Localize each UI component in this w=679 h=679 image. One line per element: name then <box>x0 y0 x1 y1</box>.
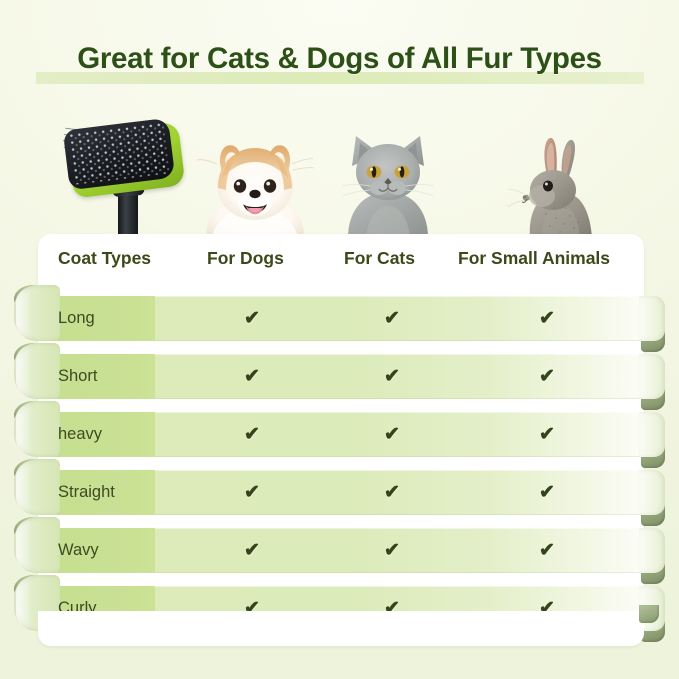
table-body: Long ✔ ✔ ✔ Short ✔ ✔ ✔ heavy ✔ ✔ ✔ <box>0 0 679 679</box>
table-row: heavy ✔ ✔ ✔ <box>14 412 665 457</box>
check-wavy-small: ✔ <box>536 528 558 573</box>
card-bottom-curl <box>639 605 659 623</box>
ribbon-left-highlight <box>16 461 32 513</box>
check-long-small: ✔ <box>536 296 558 341</box>
check-long-dogs: ✔ <box>241 296 263 341</box>
check-short-cats: ✔ <box>381 354 403 399</box>
ribbon-left-highlight <box>16 287 32 339</box>
title-block: Great for Cats & Dogs of All Fur Types <box>0 42 679 76</box>
ribbon-left-highlight <box>16 519 32 571</box>
row-label-short: Short <box>58 354 97 399</box>
row-label-wavy: Wavy <box>58 528 99 573</box>
ribbon-left-highlight <box>16 345 32 397</box>
row-label-long: Long <box>58 296 95 341</box>
card-bottom-strip <box>38 611 644 646</box>
check-short-dogs: ✔ <box>241 354 263 399</box>
check-straight-cats: ✔ <box>381 470 403 515</box>
table-row: Long ✔ ✔ ✔ <box>14 296 665 341</box>
check-straight-small: ✔ <box>536 470 558 515</box>
check-heavy-cats: ✔ <box>381 412 403 457</box>
ribbon-right-fold <box>639 528 665 573</box>
check-straight-dogs: ✔ <box>241 470 263 515</box>
ribbon-right-fold <box>639 470 665 515</box>
check-wavy-cats: ✔ <box>381 528 403 573</box>
check-long-cats: ✔ <box>381 296 403 341</box>
page-title: Great for Cats & Dogs of All Fur Types <box>77 42 602 75</box>
check-short-small: ✔ <box>536 354 558 399</box>
check-heavy-dogs: ✔ <box>241 412 263 457</box>
ribbon-right-fold <box>639 412 665 457</box>
table-row: Straight ✔ ✔ ✔ <box>14 470 665 515</box>
ribbon-right-fold <box>639 296 665 341</box>
ribbon-left-highlight <box>16 577 32 629</box>
row-label-straight: Straight <box>58 470 115 515</box>
table-row: Short ✔ ✔ ✔ <box>14 354 665 399</box>
row-label-heavy: heavy <box>58 412 102 457</box>
table-row: Wavy ✔ ✔ ✔ <box>14 528 665 573</box>
ribbon-right-fold <box>639 354 665 399</box>
check-wavy-dogs: ✔ <box>241 528 263 573</box>
ribbon-left-highlight <box>16 403 32 455</box>
check-heavy-small: ✔ <box>536 412 558 457</box>
